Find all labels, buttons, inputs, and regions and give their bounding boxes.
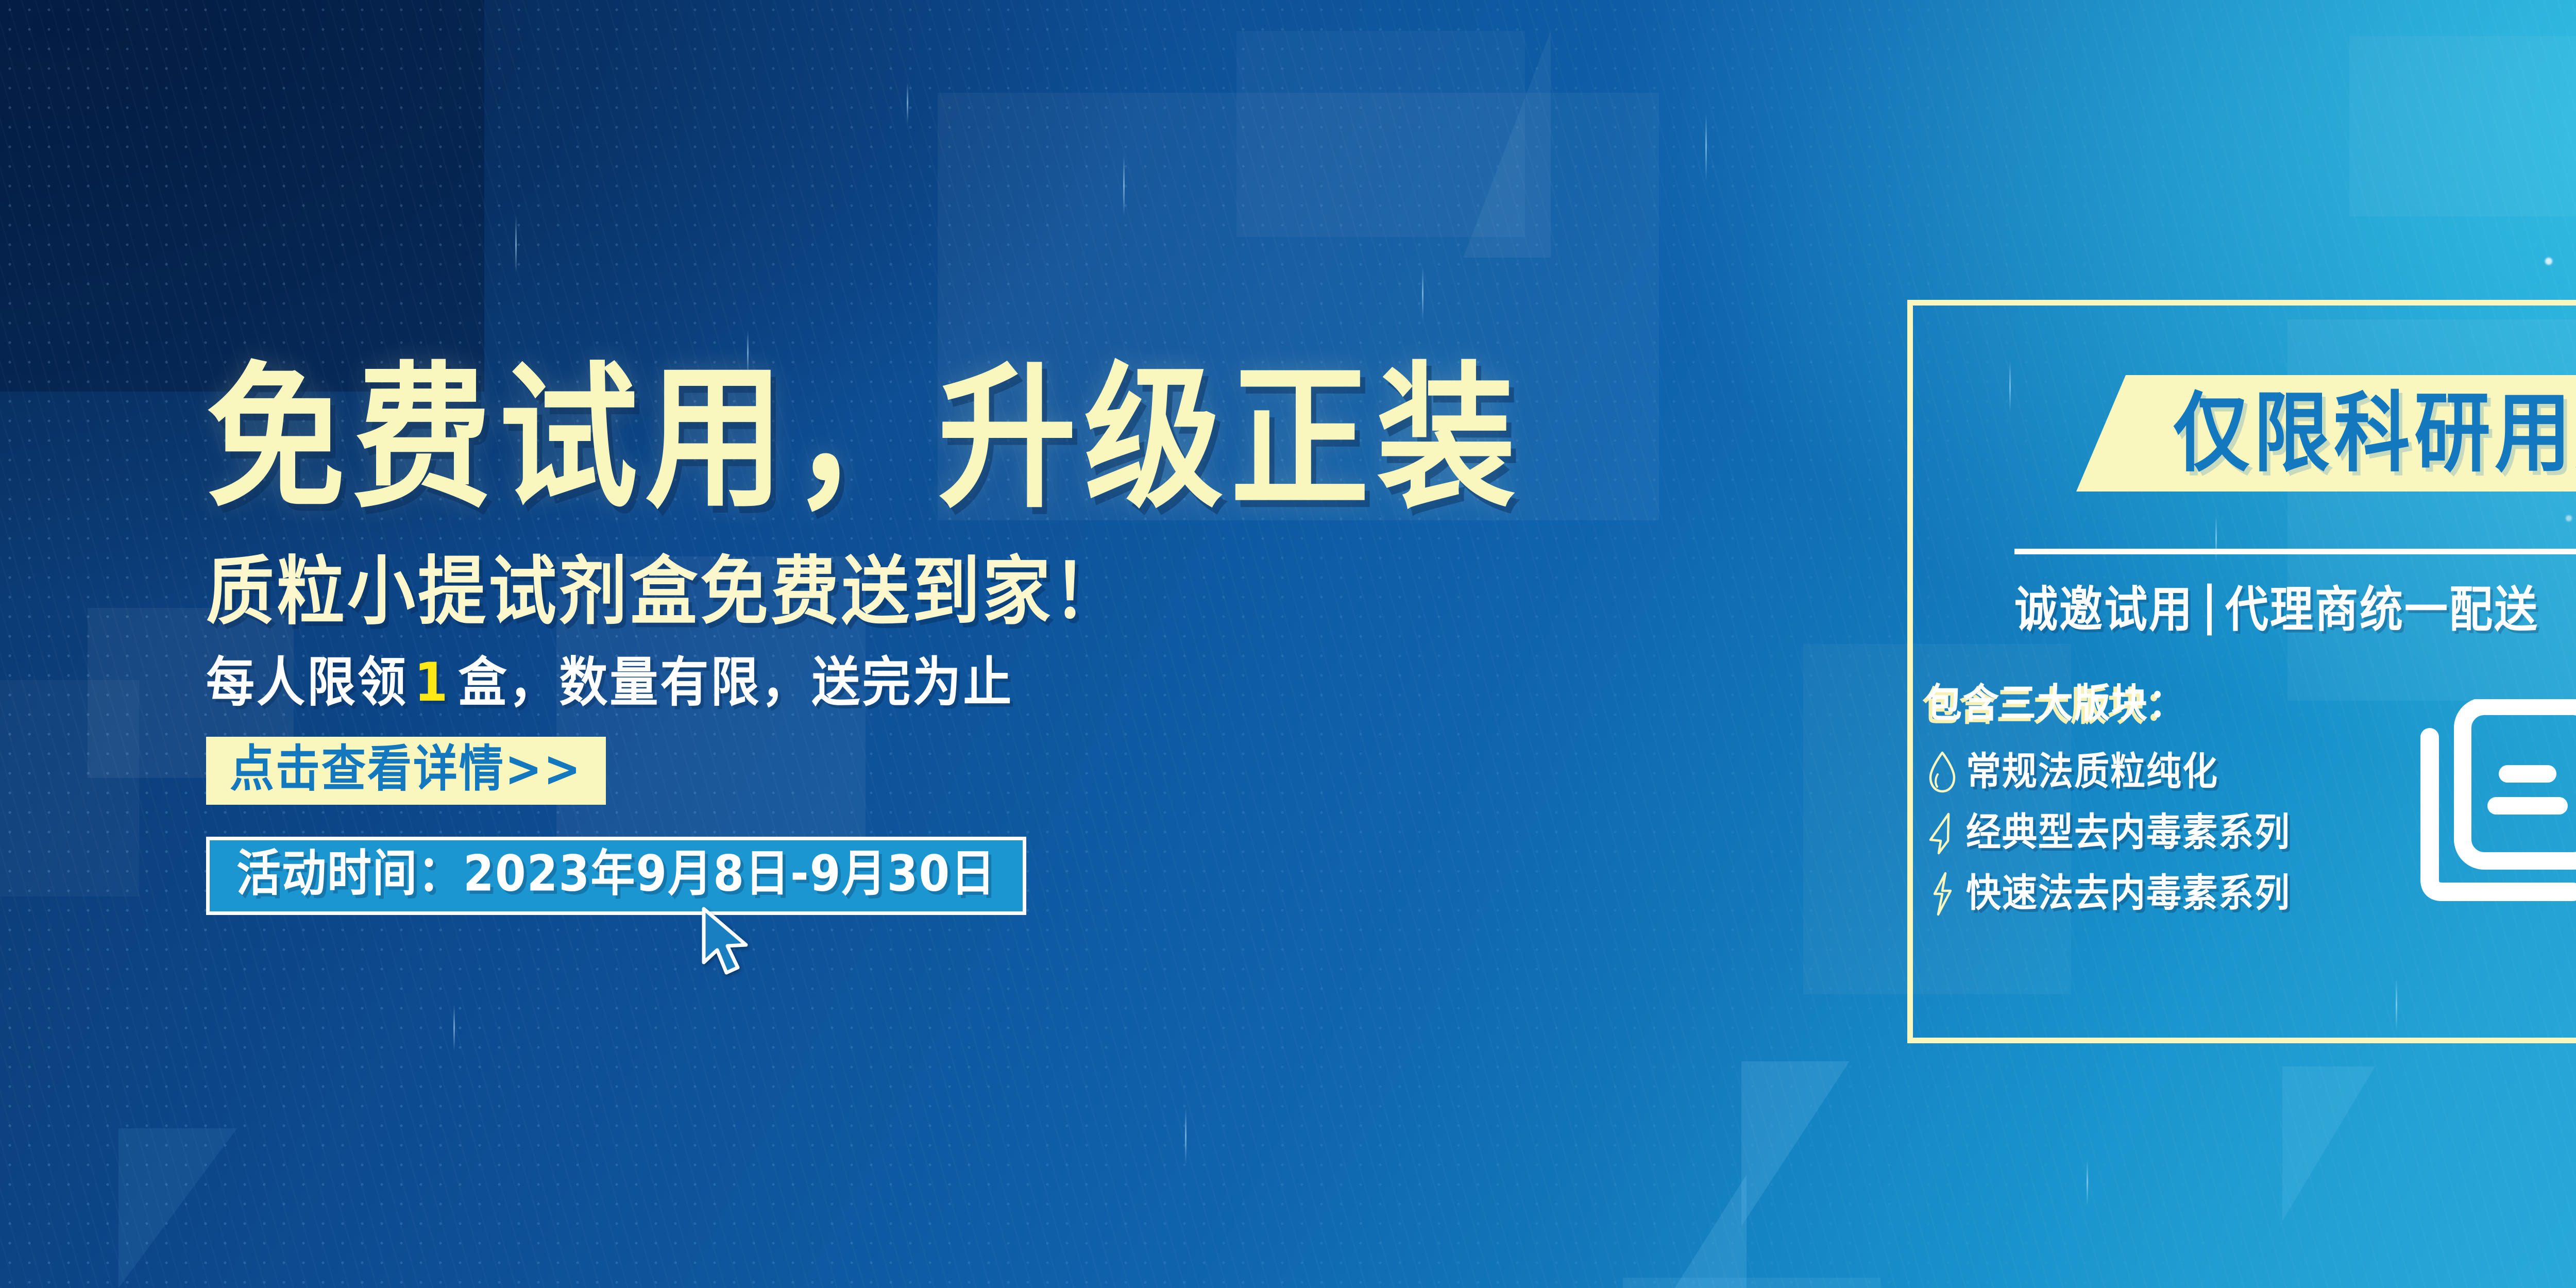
list-item-label: 经典型去内毒素系列: [1966, 814, 2291, 853]
droplet-icon: [1919, 751, 1966, 794]
list-item: 常规法质粒纯化: [1919, 742, 2382, 803]
mouse-cursor-icon: [697, 905, 758, 982]
features-list: 常规法质粒纯化 经典型去内毒素系列 快速法去内毒素系列: [1919, 742, 2382, 924]
lightning-bolt-icon: [1919, 871, 1966, 917]
subtitle: 质粒小提试剂盒免费送到家！: [206, 554, 1803, 629]
page-title: 免费试用，升级正装: [206, 361, 1803, 516]
panel-divider: [2014, 549, 2576, 554]
list-item-label: 快速法去内毒素系列: [1966, 875, 2291, 913]
campaign-period-label: 活动时间：2023年9月8日-9月30日: [236, 849, 996, 899]
campaign-period-box: 活动时间：2023年9月8日-9月30日: [206, 837, 1026, 915]
limit-notice: 每人限领 1 盒，数量有限，送完为止: [206, 656, 1803, 709]
panel-tagline-right: 代理商统一配送: [2225, 585, 2539, 634]
limit-quantity-badge: 1: [414, 656, 450, 709]
limit-notice-suffix: 盒，数量有限，送完为止: [458, 656, 1013, 709]
audience-ribbon: 仅限科研用户: [2076, 375, 2576, 492]
limit-notice-prefix: 每人限领: [206, 656, 408, 709]
view-details-button[interactable]: 点击查看详情>>: [206, 737, 606, 805]
list-item-label: 常规法质粒纯化: [1966, 753, 2218, 792]
panel-tagline: 诚邀试用 代理商统一配送: [2014, 584, 2539, 636]
features-title: 包含三大版块：: [1926, 684, 2185, 723]
vertical-divider-icon: [2207, 584, 2212, 636]
info-panel: 仅限科研用户 诚邀试用 代理商统一配送 包含三大版块： 常规法质粒纯化: [1907, 300, 2576, 1043]
audience-ribbon-label: 仅限科研用户: [2173, 390, 2576, 477]
promo-banner: 免费试用，升级正装 质粒小提试剂盒免费送到家！ 每人限领 1 盒，数量有限，送完…: [0, 0, 2576, 1288]
list-item: 经典型去内毒素系列: [1919, 803, 2382, 863]
document-stack-icon: [2405, 699, 2576, 916]
view-details-button-label: 点击查看详情>>: [230, 744, 582, 794]
panel-tagline-left: 诚邀试用: [2014, 585, 2194, 634]
list-item: 快速法去内毒素系列: [1919, 863, 2382, 924]
cursor-arrow-icon: [1919, 811, 1966, 855]
left-content: 免费试用，升级正装 质粒小提试剂盒免费送到家！ 每人限领 1 盒，数量有限，送完…: [206, 361, 1803, 915]
